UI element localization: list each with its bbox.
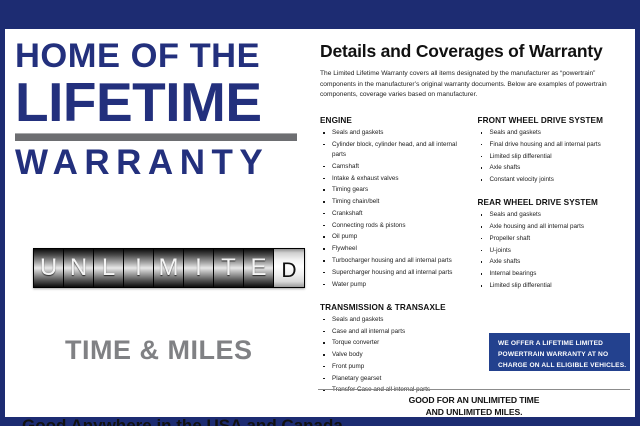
bottom-slogan: GOOD FOR AN UNLIMITED TIME AND UNLIMITED… bbox=[318, 394, 630, 418]
list-item: Water pump bbox=[320, 280, 468, 290]
list-item: Seals and gaskets bbox=[478, 210, 626, 220]
list-item: Seals and gaskets bbox=[320, 128, 468, 138]
hero-headline-group: HOME OF THE LIFETIME WARRANTY bbox=[15, 40, 303, 182]
bottom-divider-rule bbox=[318, 389, 630, 390]
list-item: Intake & exhaust valves bbox=[320, 174, 468, 184]
list-item: Axle housing and all internal parts bbox=[478, 222, 626, 232]
headline-lifetime: LIFETIME bbox=[15, 75, 303, 130]
left-hero-panel: HOME OF THE LIFETIME WARRANTY U N L I M … bbox=[5, 29, 310, 417]
odometer-display: U N L I M I T E D bbox=[33, 248, 305, 288]
engine-item-list: Seals and gaskets Cylinder block, cylind… bbox=[320, 128, 468, 290]
list-item: Front pump bbox=[320, 362, 468, 372]
list-item: Internal bearings bbox=[478, 269, 626, 279]
list-item: Valve body bbox=[320, 350, 468, 360]
section-heading-engine: ENGINE bbox=[320, 116, 468, 125]
section-heading-rear-wheel-drive: REAR WHEEL DRIVE SYSTEM bbox=[478, 198, 626, 207]
warranty-flyer: HOME OF THE LIFETIME WARRANTY U N L I M … bbox=[0, 0, 640, 426]
details-title: Details and Coverages of Warranty bbox=[320, 41, 625, 62]
odometer-digit: N bbox=[64, 249, 94, 287]
details-intro-paragraph: The Limited Lifetime Warranty covers all… bbox=[320, 69, 623, 101]
odometer-digit: U bbox=[34, 249, 64, 287]
list-item: Torque converter bbox=[320, 338, 468, 348]
list-item: Supercharger housing and all internal pa… bbox=[320, 268, 468, 278]
odometer-digit: L bbox=[94, 249, 124, 287]
promo-line-3: CHARGE ON ALL ELIGIBLE VEHICLES. bbox=[498, 361, 630, 372]
section-heading-front-wheel-drive: FRONT WHEEL DRIVE SYSTEM bbox=[478, 116, 626, 125]
transmission-item-list: Seals and gaskets Case and all internal … bbox=[320, 315, 468, 396]
promo-callout-box: WE OFFER A LIFETIME LIMITED POWERTRAIN W… bbox=[489, 333, 630, 371]
list-item: Cylinder block, cylinder head, and all i… bbox=[320, 140, 468, 160]
bottom-slogan-line-1: GOOD FOR AN UNLIMITED TIME bbox=[318, 394, 630, 406]
odometer-digit: I bbox=[124, 249, 154, 287]
list-item: Seals and gaskets bbox=[478, 128, 626, 138]
list-item: Case and all internal parts bbox=[320, 327, 468, 337]
time-and-miles-label: TIME & MILES bbox=[65, 335, 253, 366]
list-item: Planetary gearset bbox=[320, 374, 468, 384]
list-item: Crankshaft bbox=[320, 209, 468, 219]
list-item: Flywheel bbox=[320, 244, 468, 254]
odometer-digit: E bbox=[244, 249, 274, 287]
coverage-column-left: ENGINE Seals and gaskets Cylinder block,… bbox=[320, 116, 468, 397]
headline-divider-rule bbox=[15, 133, 297, 141]
list-item: Camshaft bbox=[320, 162, 468, 172]
section-heading-transmission: TRANSMISSION & TRANSAXLE bbox=[320, 303, 468, 312]
right-navy-edge bbox=[635, 29, 640, 417]
headline-warranty: WARRANTY bbox=[15, 145, 303, 182]
odometer-digit-rolling: D bbox=[274, 249, 304, 287]
list-item: Limited slip differential bbox=[478, 152, 626, 162]
list-item: Propeller shaft bbox=[478, 234, 626, 244]
list-item: Timing chain/belt bbox=[320, 197, 468, 207]
bottom-slogan-line-2: AND UNLIMITED MILES. bbox=[318, 406, 630, 418]
list-item: Limited slip differential bbox=[478, 281, 626, 291]
good-anywhere-note: Good Anywhere in the USA and Canada bbox=[22, 416, 343, 426]
front-wheel-drive-item-list: Seals and gaskets Final drive housing an… bbox=[478, 128, 626, 185]
list-item: Seals and gaskets bbox=[320, 315, 468, 325]
odometer-digit: I bbox=[184, 249, 214, 287]
list-item: Axle shafts bbox=[478, 163, 626, 173]
list-item: Constant velocity joints bbox=[478, 175, 626, 185]
list-item: Axle shafts bbox=[478, 257, 626, 267]
odometer-digit: M bbox=[154, 249, 184, 287]
list-item: Connecting rods & pistons bbox=[320, 221, 468, 231]
headline-home-of-the: HOME OF THE bbox=[15, 40, 303, 73]
rear-wheel-drive-item-list: Seals and gaskets Axle housing and all i… bbox=[478, 210, 626, 291]
list-item: Final drive housing and all internal par… bbox=[478, 140, 626, 150]
list-item: U-joints bbox=[478, 246, 626, 256]
top-navy-band bbox=[0, 0, 640, 29]
promo-line-2: POWERTRAIN WARRANTY AT NO bbox=[498, 350, 630, 361]
list-item: Oil pump bbox=[320, 232, 468, 242]
list-item: Turbocharger housing and all internal pa… bbox=[320, 256, 468, 266]
list-item: Timing gears bbox=[320, 185, 468, 195]
odometer-digit: T bbox=[214, 249, 244, 287]
promo-line-1: WE OFFER A LIFETIME LIMITED bbox=[498, 339, 630, 350]
